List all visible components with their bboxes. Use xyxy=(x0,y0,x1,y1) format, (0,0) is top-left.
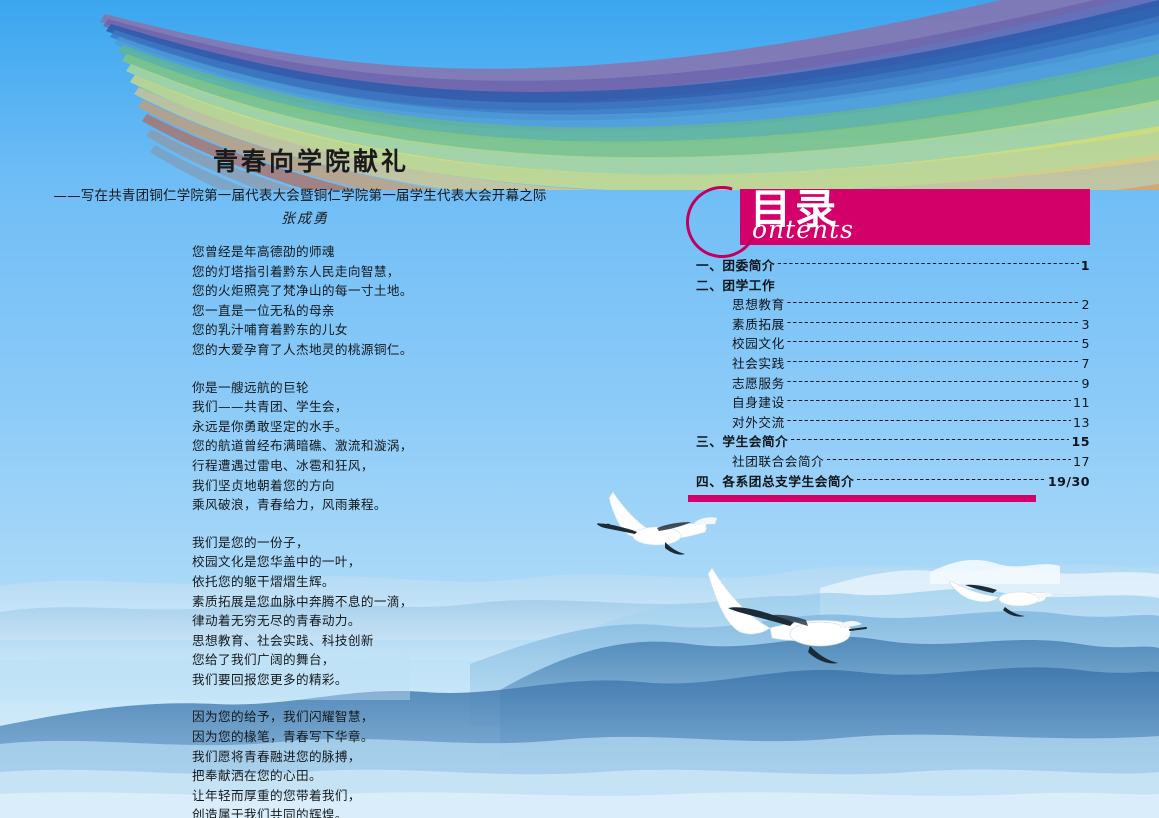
poem-line: 您的航道曾经布满暗礁、激流和漩涡， xyxy=(192,436,600,456)
toc-entry[interactable]: 一、团委简介----------------------------------… xyxy=(686,256,1090,276)
toc-bottom-rule xyxy=(688,495,1036,502)
poem-line: 我们坚贞地朝着您的方向 xyxy=(192,476,600,496)
poem-line: 因为您的给予，我们闪耀智慧， xyxy=(192,707,600,727)
poem-line: 你是一艘远航的巨轮 xyxy=(192,378,600,398)
toc-entry-label: 思想教育 xyxy=(686,295,785,315)
poem-line: 永远是你勇敢坚定的水手。 xyxy=(192,417,600,437)
toc-leader-dots: ----------------------------------------… xyxy=(787,312,1080,332)
toc-entry-label: 社团联合会简介 xyxy=(686,452,824,472)
toc-entry-page: 1 xyxy=(1081,256,1090,276)
toc-entry-page: 7 xyxy=(1081,354,1090,374)
poem-line: 把奉献洒在您的心田。 xyxy=(192,766,600,786)
poem-line: 我们要回报您更多的精彩。 xyxy=(192,670,600,690)
toc-entry-label: 对外交流 xyxy=(686,413,785,433)
toc-entry-label: 三、学生会简介 xyxy=(686,432,788,452)
toc-entry-page: 15 xyxy=(1071,432,1090,452)
toc-leader-dots: ----------------------------------------… xyxy=(787,331,1080,351)
toc-entry-page: 3 xyxy=(1081,315,1090,335)
toc-leader-dots: ----------------------------------------… xyxy=(787,390,1071,410)
poem-line: 依托您的躯干熠熠生辉。 xyxy=(192,572,600,592)
toc-entry-label: 二、团学工作 xyxy=(686,276,775,296)
toc-entry-page: 13 xyxy=(1073,413,1090,433)
author-signature: 张成勇 xyxy=(0,208,600,228)
poem-block: 青春向学院献礼 ——写在共青团铜仁学院第一届代表大会暨铜仁学院第一届学生代表大会… xyxy=(0,142,600,818)
poem-line: 素质拓展是您血脉中奔腾不息的一滴， xyxy=(192,592,600,612)
toc-entry-page: 19/30 xyxy=(1048,472,1090,492)
toc-leader-dots: ----------------------------------------… xyxy=(826,449,1071,469)
poem-stanza: 您曾经是年高德劭的师魂您的灯塔指引着黔东人民走向智慧，您的火炬照亮了梵净山的每一… xyxy=(192,242,600,360)
toc-leader-dots: ----------------------------------------… xyxy=(777,253,1079,273)
toc-entry-label: 一、团委简介 xyxy=(686,256,775,276)
poster-page: 青春向学院献礼 ——写在共青团铜仁学院第一届代表大会暨铜仁学院第一届学生代表大会… xyxy=(0,0,1159,818)
toc-entry-page: 2 xyxy=(1081,295,1090,315)
toc-leader-dots: ----------------------------------------… xyxy=(856,469,1046,489)
poem-line: 因为您的椽笔，青春写下华章。 xyxy=(192,727,600,747)
poem-line: 行程遭遇过雷电、冰雹和狂风， xyxy=(192,456,600,476)
poem-line: 我们愿将青春融进您的脉搏， xyxy=(192,747,600,767)
toc-entry-page: 9 xyxy=(1081,374,1090,394)
poem-line: 您给了我们广阔的舞台， xyxy=(192,650,600,670)
poem-body: 您曾经是年高德劭的师魂您的灯塔指引着黔东人民走向智慧，您的火炬照亮了梵净山的每一… xyxy=(0,242,600,818)
crane-bird-right xyxy=(945,565,1055,625)
poem-line: 思想教育、社会实践、科技创新 xyxy=(192,631,600,651)
poem-line: 创造属于我们共同的辉煌。 xyxy=(192,805,600,818)
toc-header: 目录 ontents xyxy=(686,186,1090,248)
toc-entry-label: 素质拓展 xyxy=(686,315,785,335)
crane-bird-middle xyxy=(690,560,870,670)
poem-line: 您的灯塔指引着黔东人民走向智慧， xyxy=(192,262,600,282)
toc-entry-list: 一、团委简介----------------------------------… xyxy=(686,256,1090,491)
poem-line: 我们——共青团、学生会， xyxy=(192,397,600,417)
page-subtitle: ——写在共青团铜仁学院第一届代表大会暨铜仁学院第一届学生代表大会开幕之际 xyxy=(0,184,600,204)
poem-stanza: 我们是您的一份子，校园文化是您华盖中的一叶，依托您的躯干熠熠生辉。素质拓展是您血… xyxy=(192,533,600,690)
table-of-contents: 目录 ontents 一、团委简介-----------------------… xyxy=(686,186,1090,502)
poem-line: 您的大爱孕育了人杰地灵的桃源铜仁。 xyxy=(192,340,600,360)
poem-line: 让年轻而厚重的您带着我们， xyxy=(192,786,600,806)
toc-entry[interactable]: 四、各系团总支学生会简介----------------------------… xyxy=(686,472,1090,492)
toc-entry-page: 5 xyxy=(1081,334,1090,354)
poem-line: 您的火炬照亮了梵净山的每一寸土地。 xyxy=(192,281,600,301)
poem-stanza: 你是一艘远航的巨轮我们——共青团、学生会，永远是你勇敢坚定的水手。您的航道曾经布… xyxy=(192,378,600,515)
toc-entry-page: 17 xyxy=(1073,452,1090,472)
toc-leader-dots: ----------------------------------------… xyxy=(787,292,1080,312)
poem-line: 乘风破浪，青春给力，风雨兼程。 xyxy=(192,495,600,515)
poem-line: 校园文化是您华盖中的一叶， xyxy=(192,552,600,572)
toc-entry-page: 11 xyxy=(1073,393,1090,413)
poem-line: 我们是您的一份子， xyxy=(192,533,600,553)
poem-stanza: 因为您的给予，我们闪耀智慧，因为您的椽笔，青春写下华章。我们愿将青春融进您的脉搏… xyxy=(192,707,600,818)
toc-entry-label: 四、各系团总支学生会简介 xyxy=(686,472,854,492)
toc-leader-dots: ----------------------------------------… xyxy=(787,351,1080,371)
toc-leader-dots: ----------------------------------------… xyxy=(787,371,1080,391)
toc-entry-label: 校园文化 xyxy=(686,334,785,354)
toc-entry-label: 志愿服务 xyxy=(686,374,785,394)
poem-line: 您的乳汁哺育着黔东的儿女 xyxy=(192,320,600,340)
toc-heading-en: ontents xyxy=(752,215,854,245)
poem-line: 律动着无穷无尽的青春动力。 xyxy=(192,611,600,631)
toc-entry-label: 社会实践 xyxy=(686,354,785,374)
toc-entry-label: 自身建设 xyxy=(686,393,785,413)
poem-line: 您一直是一位无私的母亲 xyxy=(192,301,600,321)
toc-leader-dots: ----------------------------------------… xyxy=(790,429,1069,449)
page-title: 青春向学院献礼 xyxy=(0,142,600,178)
poem-line: 您曾经是年高德劭的师魂 xyxy=(192,242,600,262)
toc-leader-dots: ----------------------------------------… xyxy=(787,410,1071,430)
